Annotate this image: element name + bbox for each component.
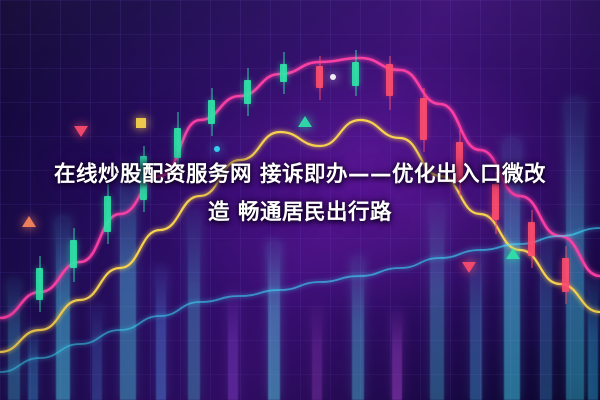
square-marker-icon <box>136 118 146 128</box>
headline-line-2: 造 畅通居民出行路 <box>18 194 582 232</box>
dot-marker-icon <box>330 74 336 80</box>
triangle-up-icon <box>506 248 520 259</box>
triangle-down-icon <box>462 262 476 273</box>
market-background-image: 在线炒股配资服务网 接诉即办——优化出入口微改 造 畅通居民出行路 <box>0 0 600 400</box>
triangle-down-icon <box>74 126 88 137</box>
headline-line-1: 在线炒股配资服务网 接诉即办——优化出入口微改 <box>18 156 582 194</box>
triangle-up-icon <box>298 116 312 127</box>
dot-marker-icon <box>214 146 220 152</box>
headline-overlay: 在线炒股配资服务网 接诉即办——优化出入口微改 造 畅通居民出行路 <box>0 156 600 232</box>
